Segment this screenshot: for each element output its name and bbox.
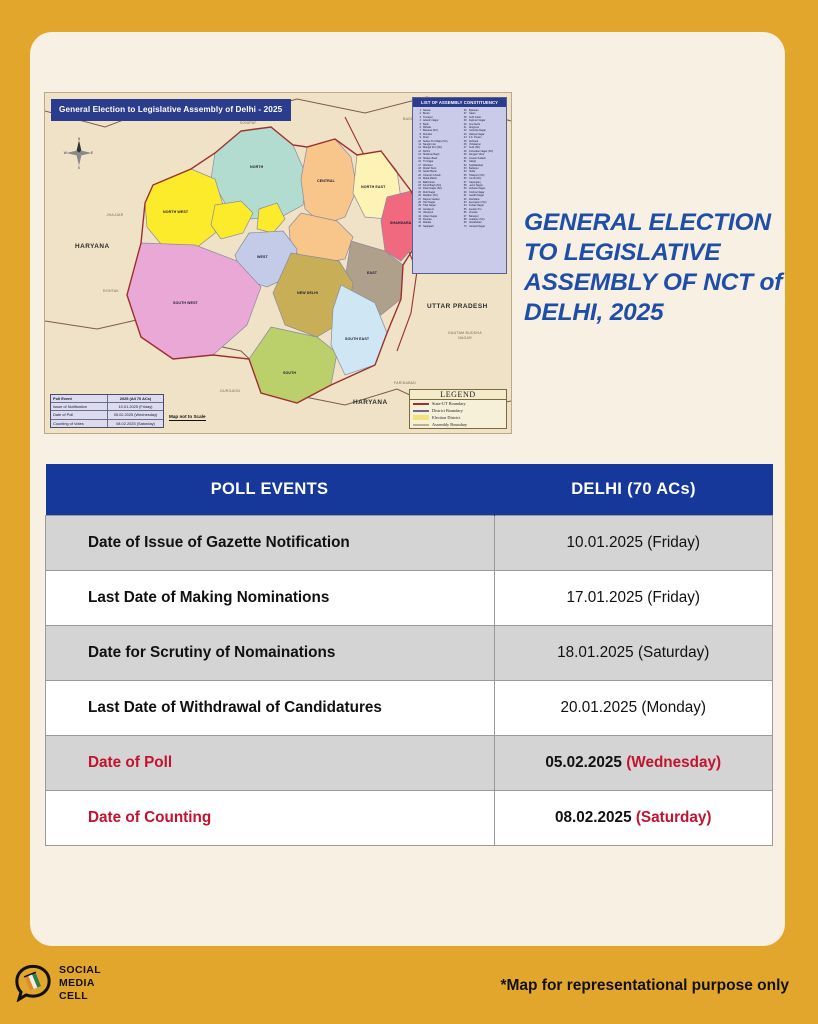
legend-title: LEGEND [410,390,506,400]
inset-header-row: Poll Event 2025 (All 70 ACs) [51,395,163,403]
page-title: GENERAL ELECTION TO LEGISLATIVE ASSEMBLY… [524,208,786,328]
svg-text:E: E [91,151,93,155]
sub-label-jhajjar: JHAJJAR [101,213,129,218]
compass-rose-icon: N S W E [63,137,95,169]
sub-label-rohtak: ROHTAK [97,289,125,294]
logo-line-2: MEDIA [59,977,101,990]
table-row: Date for Scrutiny of Nomainations18.01.2… [46,626,773,681]
inset-value: 10.01.2025 (Friday) [108,403,163,410]
date-value: 10.01.2025 [566,534,647,551]
speech-bubble-ballot-icon [14,964,52,1002]
poll-schedule-table: POLL EVENTS DELHI (70 ACs) Date of Issue… [45,464,773,846]
ac-list-header: LIST OF ASSEMBLY CONSTITUENCY [413,98,506,107]
date-weekday: (Friday) [647,534,700,551]
cell-poll-event: Date of Poll [46,736,495,791]
table-row: Date of Counting08.02.2025 (Saturday) [46,791,773,846]
content-card: General Election to Legislative Assembly… [30,32,785,946]
ac-name: Najafgarh [423,225,459,228]
district-label-south-east: SOUTH EAST [345,337,369,341]
inset-key: Date of Poll [51,411,108,418]
legend-row: District Boundary [410,407,506,414]
delhi-constituency-map: General Election to Legislative Assembly… [44,92,512,434]
cell-date: 05.02.2025 (Wednesday) [494,736,773,791]
ac-list-column-left: 1Narela2Burari3Timarpur4Adarsh Nagar5Bad… [415,109,459,228]
district-label-north: NORTH [250,165,263,169]
svg-text:N: N [78,137,81,141]
table-header-row: POLL EVENTS DELHI (70 ACs) [46,464,773,516]
date-weekday: (Friday) [647,589,700,606]
table-row: Date of Issue of Gazette Notification10.… [46,516,773,571]
district-label-north-east: NORTH EAST [361,185,385,189]
district-label-south: SOUTH [283,371,296,375]
ac-list-item: 35Najafgarh [415,225,459,228]
map-title: General Election to Legislative Assembly… [51,99,291,121]
district-label-east: EAST [367,271,377,275]
district-label-west: WEST [257,255,268,259]
sub-label-sonipat: SONIPAT [233,121,263,126]
legend-row: Assembly Boundary [410,421,506,428]
cell-date: 17.01.2025 (Friday) [494,571,773,626]
logo-text: SOCIAL MEDIA CELL [59,964,101,1002]
svg-text:S: S [78,166,80,169]
state-label-haryana-west: HARYANA [75,243,110,250]
district-label-north-west: NORTH WEST [163,210,188,214]
map-disclaimer: *Map for representational purpose only [500,977,789,995]
map-scale-note: Map not to Scale [169,414,206,421]
social-media-cell-logo: SOCIAL MEDIA CELL [14,964,101,1002]
map-poll-inset-table: Poll Event 2025 (All 70 ACs) Issue of No… [50,394,164,429]
cell-date: 20.01.2025 (Monday) [494,681,773,736]
cell-date: 08.02.2025 (Saturday) [494,791,773,846]
table-row: Last Date of Withdrawal of Candidatures2… [46,681,773,736]
inset-row: Counting of Votes08.02.2025 (Saturday) [51,420,163,427]
date-weekday: (Monday) [641,699,706,716]
cell-poll-event: Last Date of Withdrawal of Candidatures [46,681,495,736]
inset-header-key: Poll Event [51,395,108,402]
legend-swatch-icon [413,415,429,420]
legend-row: State-UT Boundary [410,400,506,407]
ac-list-column-right: 36Bijwasan37Palam38Delhi Cantt39Rajinder… [461,109,505,228]
cell-poll-event: Date of Counting [46,791,495,846]
footer: SOCIAL MEDIA CELL *Map for representatio… [0,946,818,1024]
column-header-delhi: DELHI (70 ACs) [494,464,773,516]
district-label-new-delhi: NEW DELHI [297,291,318,295]
legend-swatch-icon [413,410,429,412]
sub-label-gautam-buddha-nagar: GAUTAM BUDDHA NAGAR [443,331,487,340]
column-header-poll-events: POLL EVENTS [46,464,495,516]
inset-row: Issue of Notification10.01.2025 (Friday) [51,403,163,411]
ac-number: 35 [415,225,421,228]
date-weekday: (Saturday) [636,809,712,826]
cell-date: 18.01.2025 (Saturday) [494,626,773,681]
table-row: Last Date of Making Nominations17.01.202… [46,571,773,626]
district-label-shahdara: SHAHDARA [390,221,411,225]
legend-swatch-icon [413,424,429,426]
logo-line-1: SOCIAL [59,964,101,977]
cell-poll-event: Date of Issue of Gazette Notification [46,516,495,571]
sub-label-gurgaon: GURGAON [215,389,245,394]
date-weekday: (Wednesday) [626,754,721,771]
inset-key: Counting of Votes [51,420,108,427]
date-weekday: (Saturday) [638,644,709,661]
table-row: Date of Poll05.02.2025 (Wednesday) [46,736,773,791]
legend-swatch-icon [413,403,429,405]
legend-label: State-UT Boundary [432,401,466,406]
state-label-uttar-pradesh: UTTAR PRADESH [427,303,488,310]
inset-value: 05.02.2025 (Wednesday) [108,411,163,418]
logo-line-3: CELL [59,990,101,1003]
cell-poll-event: Date for Scrutiny of Nomainations [46,626,495,681]
date-value: 08.02.2025 [555,809,636,826]
date-value: 17.01.2025 [566,589,647,606]
legend-row: Election District [410,414,506,421]
assembly-constituency-list: LIST OF ASSEMBLY CONSTITUENCY 1Narela2Bu… [412,97,507,274]
date-value: 05.02.2025 [545,754,626,771]
svg-text:W: W [64,151,67,155]
inset-row: Date of Poll05.02.2025 (Wednesday) [51,411,163,419]
legend-label: District Boundary [432,408,463,413]
inset-value: 08.02.2025 (Saturday) [108,420,163,427]
sub-label-faridabad: FARIDABAD [389,381,421,386]
ac-number: 70 [461,225,467,228]
ac-name: Karawal Nagar [469,225,505,228]
ac-list-item: 70Karawal Nagar [461,225,505,228]
state-label-haryana-south: HARYANA [353,399,388,406]
date-value: 20.01.2025 [561,699,642,716]
cell-poll-event: Last Date of Making Nominations [46,571,495,626]
cell-date: 10.01.2025 (Friday) [494,516,773,571]
district-label-south-west: SOUTH WEST [173,301,198,305]
district-label-central: CENTRAL [317,179,335,183]
inset-header-value: 2025 (All 70 ACs) [108,395,163,402]
legend-label: Election District [432,415,460,420]
date-value: 18.01.2025 [557,644,638,661]
inset-key: Issue of Notification [51,403,108,410]
legend-label: Assembly Boundary [432,422,467,427]
map-legend: LEGEND State-UT BoundaryDistrict Boundar… [409,389,507,429]
